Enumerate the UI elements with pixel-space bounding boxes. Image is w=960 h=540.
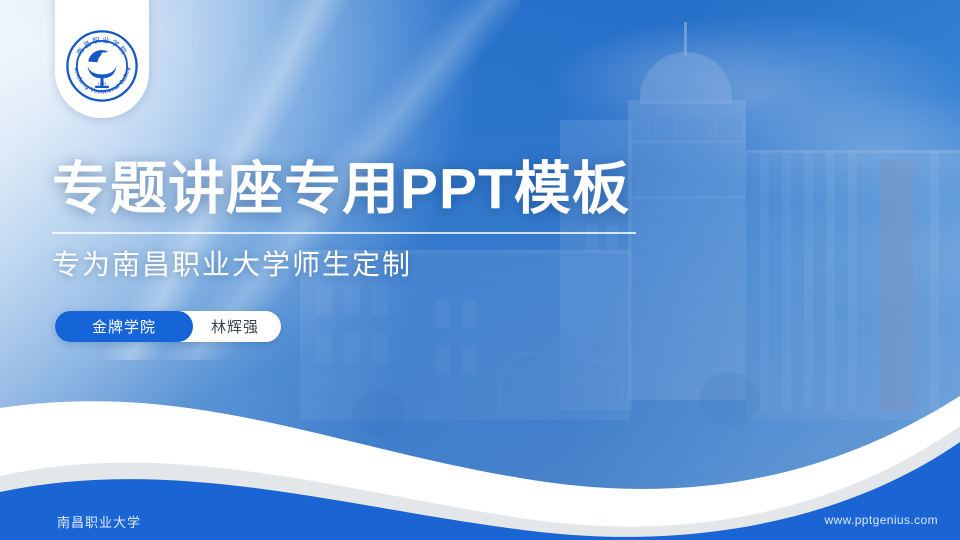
badge-presenter[interactable]: 林辉强 xyxy=(193,311,281,342)
footer-university-name: 南昌职业大学 xyxy=(57,512,141,531)
logo-tab: 南昌职业学院 Nanchang Vocational College 1993 xyxy=(55,0,149,118)
presentation-slide: 南昌职业学院 Nanchang Vocational College 1993 … xyxy=(0,0,960,540)
badge-college[interactable]: 金牌学院 xyxy=(55,311,193,342)
footer-website-url[interactable]: www.pptgenius.com xyxy=(824,513,938,527)
wave-decoration xyxy=(0,350,960,540)
university-logo-icon[interactable]: 南昌职业学院 Nanchang Vocational College 1993 xyxy=(64,28,140,104)
svg-text:1993: 1993 xyxy=(98,82,106,86)
badge-group: 金牌学院 林辉强 xyxy=(55,311,281,342)
page-title: 专题讲座专用PPT模板 xyxy=(52,158,630,222)
page-subtitle: 专为南昌职业大学师生定制 xyxy=(52,243,412,283)
title-divider xyxy=(52,232,636,234)
